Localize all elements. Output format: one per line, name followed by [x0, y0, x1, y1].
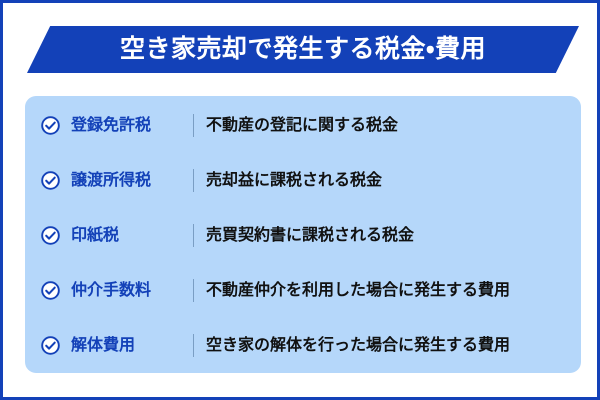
list-item-divider — [193, 334, 194, 357]
check-circle-icon — [41, 336, 60, 355]
list-item: 仲介手数料 不動産仲介を利用した場合に発生する費用 — [25, 263, 581, 318]
list-item-divider — [193, 114, 194, 137]
list-item-description: 不動産の登記に関する税金 — [206, 117, 581, 135]
tax-cost-list-panel: 登録免許税 不動産の登記に関する税金 譲渡所得税 売却益に課税される税金 印紙税… — [25, 96, 581, 373]
list-item-term: 譲渡所得税 — [71, 173, 193, 189]
list-item-term: 仲介手数料 — [71, 283, 193, 299]
list-item-description: 売買契約書に課税される税金 — [206, 227, 581, 245]
list-item-divider — [193, 279, 194, 302]
list-item-description: 空き家の解体を行った場合に発生する費用 — [206, 337, 581, 355]
list-item: 登録免許税 不動産の登記に関する税金 — [25, 98, 581, 153]
title-banner: 空き家売却で発生する税金・費用 — [27, 26, 579, 73]
list-item-divider — [193, 169, 194, 192]
list-item-divider — [193, 224, 194, 247]
list-item: 解体費用 空き家の解体を行った場合に発生する費用 — [25, 318, 581, 373]
check-circle-icon — [41, 171, 60, 190]
check-circle-icon — [41, 281, 60, 300]
list-item-term: 解体費用 — [71, 338, 193, 354]
check-circle-icon — [41, 116, 60, 135]
list-item-description: 不動産仲介を利用した場合に発生する費用 — [206, 282, 581, 300]
list-item-term: 登録免許税 — [71, 118, 193, 134]
list-item-term: 印紙税 — [71, 228, 193, 244]
list-item-description: 売却益に課税される税金 — [206, 172, 581, 190]
infographic-card: 空き家売却で発生する税金・費用 登録免許税 不動産の登記に関する税金 譲渡所得税… — [0, 0, 600, 400]
list-item: 印紙税 売買契約書に課税される税金 — [25, 208, 581, 263]
check-circle-icon — [41, 226, 60, 245]
page-title: 空き家売却で発生する税金・費用 — [120, 37, 486, 62]
list-item: 譲渡所得税 売却益に課税される税金 — [25, 153, 581, 208]
